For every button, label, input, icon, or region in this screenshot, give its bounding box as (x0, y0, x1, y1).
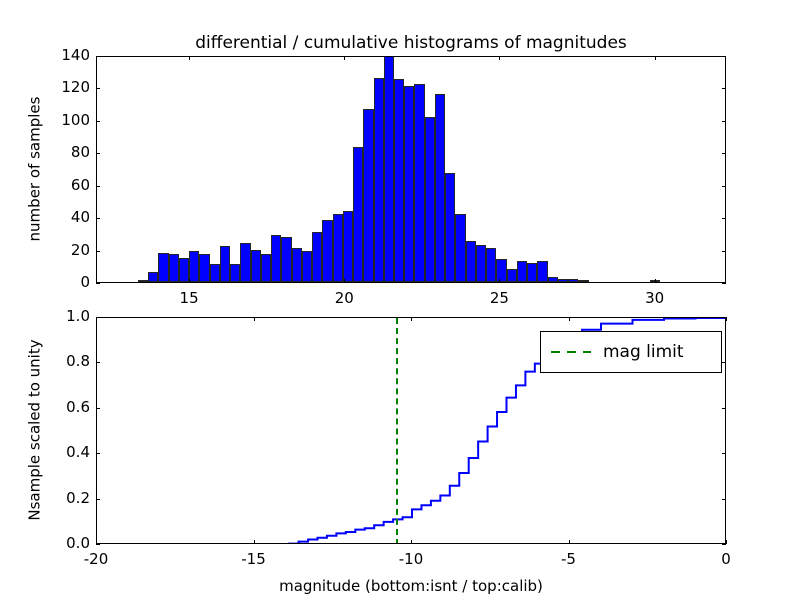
page-title: differential / cumulative histograms of … (96, 33, 726, 53)
y-axis-tick (96, 251, 100, 252)
x-axis-tick-label: -5 (539, 550, 599, 568)
histogram-bar (374, 78, 384, 282)
histogram-bar (261, 254, 271, 282)
histogram-bar (138, 280, 148, 282)
y-axis-tick-label: 20 (30, 241, 90, 259)
x-axis-tick (411, 540, 412, 544)
y-axis-tick (96, 56, 100, 57)
x-axis-tick (655, 279, 656, 283)
y-axis-tick (96, 544, 100, 545)
x-axis-tick (499, 279, 500, 283)
histogram-bar (476, 245, 486, 282)
y-axis-tick-right (722, 544, 726, 545)
histogram-bar (507, 269, 517, 282)
histogram-bar (220, 246, 230, 282)
histogram-bar (517, 261, 527, 282)
x-axis-tick-label: 15 (159, 289, 219, 307)
matplotlib-figure: differential / cumulative histograms of … (0, 0, 800, 600)
histogram-bar (189, 251, 199, 282)
histogram-bar (537, 261, 547, 282)
histogram-bar (455, 214, 465, 282)
x-axis-tick (189, 279, 190, 283)
bottom-panel-ylabel: Nsample scaled to unity (25, 316, 43, 543)
histogram-bar (292, 248, 302, 282)
y-axis-tick-right (722, 499, 726, 500)
y-axis-tick-label: 120 (30, 78, 90, 96)
histogram-bar (158, 253, 168, 282)
histogram-bar (435, 94, 445, 282)
histogram-bar (548, 277, 558, 282)
y-axis-tick (96, 218, 100, 219)
figure-xlabel: magnitude (bottom:isnt / top:calib) (96, 577, 726, 595)
y-axis-tick (96, 362, 100, 363)
histogram-bar (281, 237, 291, 282)
y-axis-tick-right (722, 362, 726, 363)
histogram-bars-layer (97, 57, 725, 282)
y-axis-tick-label: 40 (30, 208, 90, 226)
histogram-bar (404, 86, 414, 282)
y-axis-tick-label: 60 (30, 176, 90, 194)
y-axis-tick-label: 0 (30, 273, 90, 291)
y-axis-tick-right (722, 218, 726, 219)
green-dashed-line-icon (551, 351, 591, 353)
y-axis-tick-right (722, 186, 726, 187)
y-axis-tick-label: 100 (30, 111, 90, 129)
x-axis-tick (344, 279, 345, 283)
x-axis-tick-label: -10 (381, 550, 441, 568)
y-axis-tick (96, 317, 100, 318)
x-axis-tick (726, 540, 727, 544)
x-axis-tick-top (189, 56, 190, 60)
y-axis-tick-right (722, 56, 726, 57)
histogram-bar (240, 243, 250, 282)
histogram-bar (363, 109, 373, 282)
x-axis-tick-label: 25 (469, 289, 529, 307)
histogram-bar (425, 117, 435, 282)
x-axis-tick-label: 20 (314, 289, 374, 307)
y-axis-tick-label: 0.6 (30, 398, 90, 416)
histogram-bar (271, 235, 281, 282)
histogram-bar (353, 147, 363, 282)
y-axis-tick-right (722, 121, 726, 122)
x-axis-tick-top (499, 56, 500, 60)
histogram-bar (414, 84, 424, 282)
y-axis-tick (96, 186, 100, 187)
y-axis-tick-label: 0.8 (30, 352, 90, 370)
y-axis-tick-label: 80 (30, 143, 90, 161)
y-axis-tick-label: 0.4 (30, 443, 90, 461)
histogram-bar (333, 214, 343, 282)
histogram-bar (384, 57, 394, 282)
x-axis-tick-label: -20 (66, 550, 126, 568)
histogram-bar (486, 248, 496, 282)
y-axis-tick-label: 140 (30, 46, 90, 64)
y-axis-tick (96, 499, 100, 500)
histogram-bar (394, 79, 404, 282)
histogram-bar (445, 173, 455, 282)
y-axis-tick-right (722, 153, 726, 154)
histogram-bar (199, 254, 209, 282)
histogram-bar (179, 258, 189, 282)
x-axis-tick-label: -15 (224, 550, 284, 568)
x-axis-tick-label: 30 (625, 289, 685, 307)
x-axis-tick-top (569, 317, 570, 321)
x-axis-tick-label: 0 (696, 550, 756, 568)
y-axis-tick (96, 408, 100, 409)
histogram-bar (578, 280, 588, 282)
histogram-bar (312, 232, 322, 282)
y-axis-tick (96, 453, 100, 454)
x-axis-tick (254, 540, 255, 544)
y-axis-tick-right (722, 283, 726, 284)
histogram-bar (343, 211, 353, 282)
legend: mag limit (540, 331, 722, 373)
x-axis-tick-top (655, 56, 656, 60)
legend-item-label: mag limit (603, 342, 684, 362)
x-axis-tick-top (254, 317, 255, 321)
y-axis-tick-label: 0.0 (30, 534, 90, 552)
mag-limit-vline (396, 318, 398, 543)
histogram-bar (568, 279, 578, 282)
y-axis-tick (96, 153, 100, 154)
histogram-bar (558, 279, 568, 282)
x-axis-tick-top (411, 317, 412, 321)
histogram-bar (148, 272, 158, 282)
y-axis-tick-right (722, 453, 726, 454)
histogram-bar (169, 254, 179, 282)
x-axis-tick (569, 540, 570, 544)
histogram-bar (302, 251, 312, 282)
histogram-bar (466, 241, 476, 282)
x-axis-tick-top (344, 56, 345, 60)
y-axis-tick-label: 1.0 (30, 307, 90, 325)
y-axis-tick (96, 121, 100, 122)
histogram-bar (527, 263, 537, 282)
histogram-bar (322, 220, 332, 282)
y-axis-tick-right (722, 408, 726, 409)
differential-histogram-axes (96, 56, 726, 283)
histogram-bar (496, 259, 506, 282)
y-axis-tick-right (722, 317, 726, 318)
histogram-bar (210, 264, 220, 282)
y-axis-tick-right (722, 251, 726, 252)
y-axis-tick (96, 283, 100, 284)
y-axis-tick-right (722, 88, 726, 89)
histogram-bar (251, 250, 261, 282)
x-axis-tick-top (726, 317, 727, 321)
y-axis-tick (96, 88, 100, 89)
y-axis-tick-label: 0.2 (30, 489, 90, 507)
histogram-bar (230, 264, 240, 282)
